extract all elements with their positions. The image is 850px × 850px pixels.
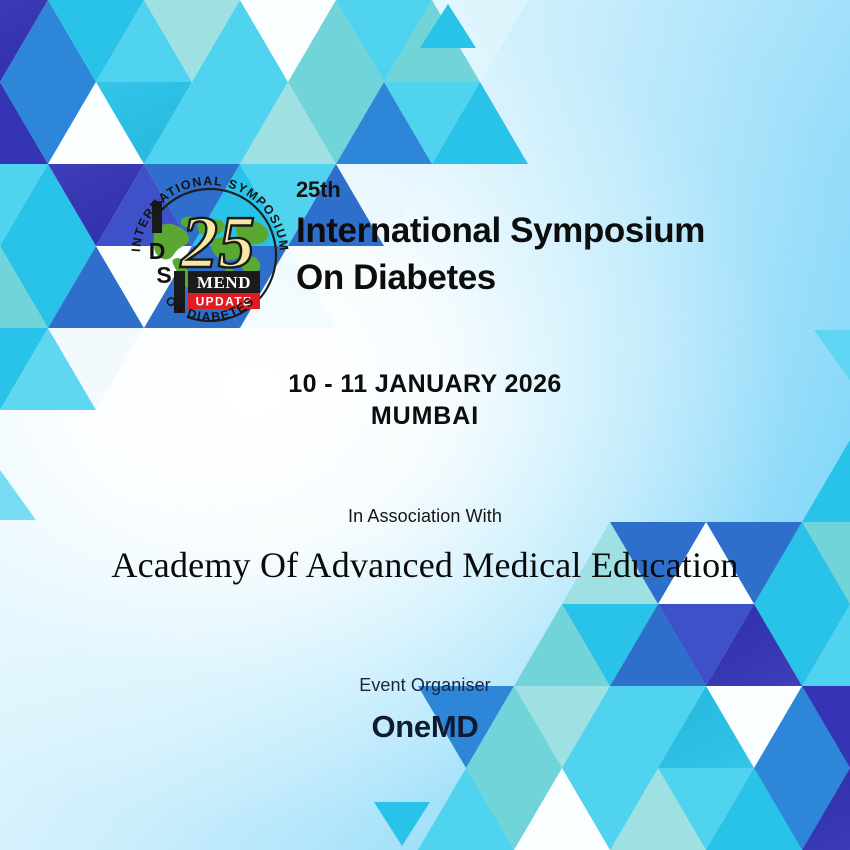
symposium-logo: D S 25 MEND UPDATE INTERNATIONAL SYMPOSI… [122,163,298,339]
organiser-name: OneMD [0,709,850,745]
logo-letter-s: S [156,262,171,288]
organiser-label: Event Organiser [0,675,850,696]
event-city: MUMBAI [0,400,850,432]
association-label: In Association With [0,506,850,527]
event-date: 10 - 11 JANUARY 2026 [0,368,850,400]
svg-text:MEND: MEND [197,273,251,292]
organiser-block: Event Organiser OneMD [0,675,850,745]
edition-label: 25th [296,178,816,202]
event-poster: D S 25 MEND UPDATE INTERNATIONAL SYMPOSI… [0,0,850,850]
association-name: Academy Of Advanced Medical Education [0,544,850,586]
title-block: 25th International Symposium On Diabetes [296,178,816,301]
date-location-block: 10 - 11 JANUARY 2026 MUMBAI [0,368,850,432]
page-title: International Symposium On Diabetes [296,208,816,301]
association-block: In Association With Academy Of Advanced … [0,506,850,586]
logo-letter-d: D [149,238,166,264]
